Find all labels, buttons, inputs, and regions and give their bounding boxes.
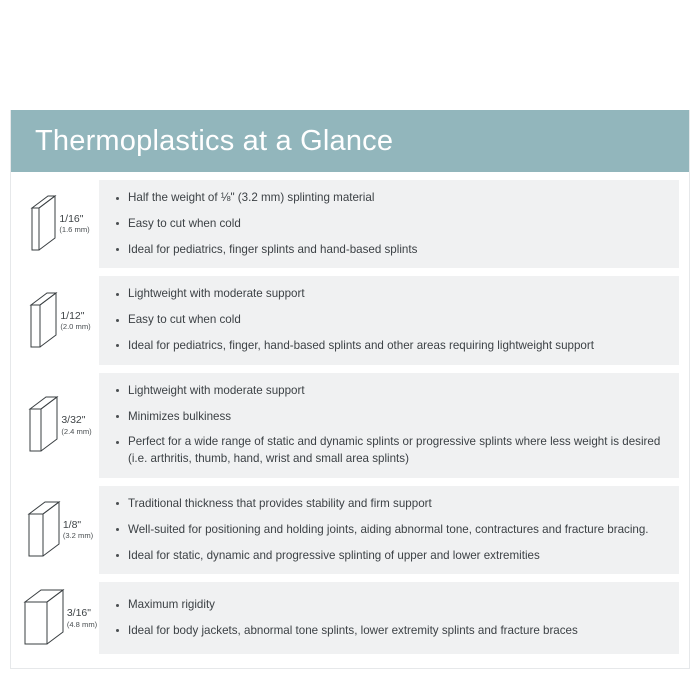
list-item: Ideal for body jackets, abnormal tone sp… [115,623,665,640]
thickness-icon-cell: 3/32"(2.4 mm) [21,373,99,478]
thickness-mm-label: (1.6 mm) [59,226,89,235]
table-row: 3/16"(4.8 mm)Maximum rigidityIdeal for b… [21,582,679,654]
thermoplastic-slab-icon [30,194,57,254]
table-row: 1/8"(3.2 mm)Traditional thickness that p… [21,486,679,574]
thickness-description-cell: Half the weight of ⅛" (3.2 mm) splinting… [99,180,679,268]
feature-bullet-list: Half the weight of ⅛" (3.2 mm) splinting… [115,190,665,258]
thermoplastic-slab-icon [28,395,59,455]
card-header: Thermoplastics at a Glance [11,110,689,172]
list-item: Ideal for static, dynamic and progressiv… [115,548,665,565]
thickness-dimension: 1/12"(2.0 mm) [60,310,90,332]
page-root: Thermoplastics at a Glance 1/16"(1.6 mm)… [0,0,700,700]
thickness-mm-label: (3.2 mm) [63,532,93,541]
list-item: Lightweight with moderate support [115,286,665,303]
thickness-icon-cell: 1/16"(1.6 mm) [21,180,99,268]
list-item: Minimizes bulkiness [115,409,665,426]
thickness-description-cell: Lightweight with moderate supportMinimiz… [99,373,679,478]
list-item: Easy to cut when cold [115,312,665,329]
thickness-dimension: 3/32"(2.4 mm) [61,414,91,436]
list-item: Ideal for pediatrics, finger splints and… [115,242,665,259]
card-body: 1/16"(1.6 mm)Half the weight of ⅛" (3.2 … [11,172,689,668]
icon-wrap: 1/12"(2.0 mm) [29,291,90,351]
thickness-inches-label: 3/16" [67,607,97,619]
thermoplastic-slab-icon [27,500,61,560]
icon-wrap: 1/16"(1.6 mm) [30,194,89,254]
thickness-row-list: 1/16"(1.6 mm)Half the weight of ⅛" (3.2 … [21,180,679,654]
thickness-mm-label: (2.4 mm) [61,428,91,437]
table-row: 1/12"(2.0 mm)Lightweight with moderate s… [21,276,679,364]
thickness-description-cell: Lightweight with moderate supportEasy to… [99,276,679,364]
thermoplastic-slab-icon [23,588,65,648]
thickness-inches-label: 1/8" [63,519,93,531]
icon-wrap: 3/16"(4.8 mm) [23,588,97,648]
list-item: Ideal for pediatrics, finger, hand-based… [115,338,665,355]
icon-wrap: 1/8"(3.2 mm) [27,500,93,560]
page-title: Thermoplastics at a Glance [35,127,393,156]
thickness-inches-label: 3/32" [61,414,91,426]
thickness-dimension: 3/16"(4.8 mm) [67,607,97,629]
thickness-icon-cell: 3/16"(4.8 mm) [21,582,99,654]
thickness-description-cell: Traditional thickness that provides stab… [99,486,679,574]
feature-bullet-list: Lightweight with moderate supportMinimiz… [115,383,665,468]
thermoplastic-slab-icon [29,291,58,351]
feature-bullet-list: Traditional thickness that provides stab… [115,496,665,564]
thickness-inches-label: 1/12" [60,310,90,322]
list-item: Maximum rigidity [115,597,665,614]
table-row: 3/32"(2.4 mm)Lightweight with moderate s… [21,373,679,478]
thermoplastics-card: Thermoplastics at a Glance 1/16"(1.6 mm)… [10,110,690,669]
thickness-mm-label: (4.8 mm) [67,621,97,630]
feature-bullet-list: Lightweight with moderate supportEasy to… [115,286,665,354]
list-item: Perfect for a wide range of static and d… [115,434,665,468]
thickness-dimension: 1/8"(3.2 mm) [63,519,93,541]
list-item: Half the weight of ⅛" (3.2 mm) splinting… [115,190,665,207]
list-item: Easy to cut when cold [115,216,665,233]
thickness-dimension: 1/16"(1.6 mm) [59,213,89,235]
thickness-icon-cell: 1/12"(2.0 mm) [21,276,99,364]
list-item: Traditional thickness that provides stab… [115,496,665,513]
thickness-mm-label: (2.0 mm) [60,323,90,332]
table-row: 1/16"(1.6 mm)Half the weight of ⅛" (3.2 … [21,180,679,268]
list-item: Well-suited for positioning and holding … [115,522,665,539]
thickness-icon-cell: 1/8"(3.2 mm) [21,486,99,574]
thickness-inches-label: 1/16" [59,213,89,225]
icon-wrap: 3/32"(2.4 mm) [28,395,91,455]
list-item: Lightweight with moderate support [115,383,665,400]
feature-bullet-list: Maximum rigidityIdeal for body jackets, … [115,597,665,640]
thickness-description-cell: Maximum rigidityIdeal for body jackets, … [99,582,679,654]
